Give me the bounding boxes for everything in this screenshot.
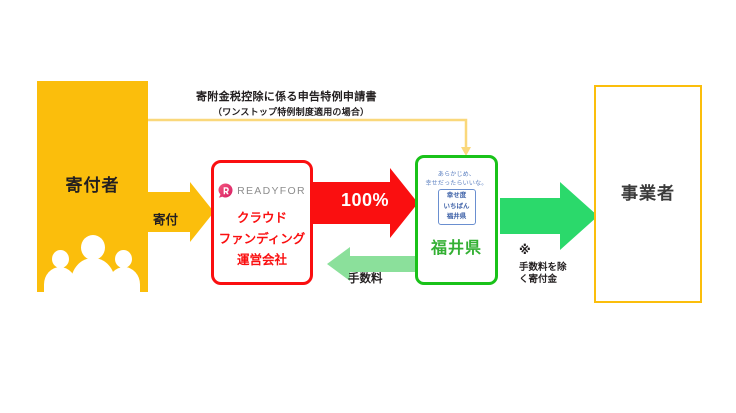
person-silhouette-icon — [52, 250, 69, 268]
crowdfunding-company-block: READYFOR クラウド ファンディング 運営会社 — [211, 160, 313, 285]
person-silhouette-icon — [81, 235, 105, 260]
transfer-percent-label: 100% — [341, 190, 389, 211]
prefecture-emblem-line-1: 幸せ度 — [439, 191, 475, 202]
readyfor-logo: READYFOR — [214, 183, 310, 198]
prefecture-name: 福井県 — [418, 234, 495, 258]
asterisk-marker: ※ — [519, 243, 531, 257]
prefecture-emblem-line-3: 福井県 — [439, 212, 475, 223]
onestop-application-subtitle: （ワンストップ特例制度適用の場合） — [213, 105, 369, 118]
crowdfunding-line-3: 運営会社 — [214, 249, 310, 268]
net-donation-note: 手数料を除 く寄付金 — [519, 262, 567, 286]
fee-arrow-label: 手数料 — [348, 270, 383, 286]
business-operator-block: 事業者 — [594, 85, 702, 303]
net-donation-note-line-1: 手数料を除 — [519, 262, 567, 274]
readyfor-wordmark: READYFOR — [237, 185, 306, 197]
donor-label: 寄付者 — [37, 171, 148, 196]
donation-arrow-label: 寄付 — [153, 209, 178, 228]
onestop-connector — [148, 120, 471, 156]
onestop-application-title: 寄附金税控除に係る申告特例申請書 — [196, 88, 377, 104]
person-silhouette-icon — [71, 258, 115, 292]
net-donation-arrow — [500, 182, 598, 250]
crowdfunding-line-2: ファンディング — [214, 228, 310, 247]
prefecture-emblem-line-2: いちばん — [439, 202, 475, 213]
business-operator-label: 事業者 — [596, 179, 700, 204]
person-silhouette-icon — [115, 250, 132, 268]
readyfor-logo-icon — [218, 183, 233, 198]
crowdfunding-line-1: クラウド — [214, 207, 310, 226]
prefecture-tagline-line-2: 幸せだったらいいな。 — [418, 178, 495, 187]
funds-flow-diagram: 寄付者 READYFOR クラウド ファンディング 運営会社 — [0, 0, 736, 413]
prefecture-block: あらかじめ、 幸せだったらいいな。 幸せ度 いちばん 福井県 福井県 — [415, 155, 498, 285]
prefecture-emblem-icon: 幸せ度 いちばん 福井県 — [438, 189, 476, 225]
net-donation-note-line-2: く寄付金 — [519, 274, 567, 286]
prefecture-tagline-line-1: あらかじめ、 — [418, 169, 495, 178]
donor-block: 寄付者 — [37, 81, 148, 292]
